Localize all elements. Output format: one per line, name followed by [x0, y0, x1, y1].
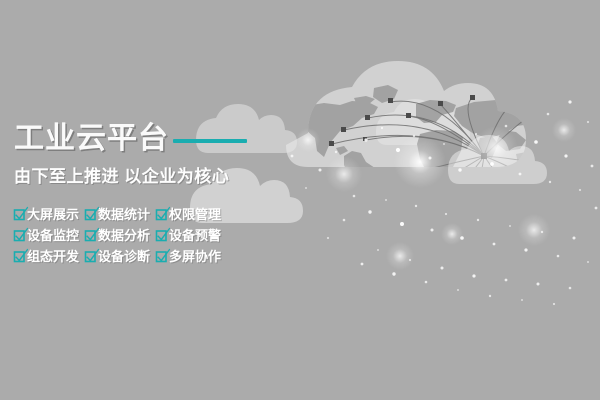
feature-label: 多屏协作: [169, 250, 221, 263]
check-icon: [156, 251, 167, 262]
feature-label: 设备预警: [169, 229, 221, 242]
page-title: 工业云平台: [14, 124, 169, 154]
feature-item: 设备监控: [14, 225, 85, 246]
feature-item: 多屏协作: [156, 246, 227, 267]
check-icon: [14, 230, 25, 241]
feature-item: 设备预警: [156, 225, 227, 246]
title-accent-rule: [173, 139, 247, 143]
feature-label: 设备诊断: [98, 250, 150, 263]
check-icon: [156, 209, 167, 220]
feature-label: 权限管理: [169, 208, 221, 221]
feature-item: 组态开发: [14, 246, 85, 267]
check-icon: [14, 209, 25, 220]
feature-item: 数据分析: [85, 225, 156, 246]
feature-item: 设备诊断: [85, 246, 156, 267]
feature-item: 权限管理: [156, 204, 227, 225]
check-icon: [85, 251, 96, 262]
check-icon: [14, 251, 25, 262]
check-icon: [156, 230, 167, 241]
page-subtitle: 由下至上推进 以企业为核心: [14, 168, 229, 185]
hero-text-panel: 工业云平台 由下至上推进 以企业为核心 大屏展示: [0, 0, 270, 400]
industrial-cloud-banner: 工业云平台 由下至上推进 以企业为核心 大屏展示: [0, 0, 600, 400]
feature-label: 设备监控: [27, 229, 79, 242]
feature-label: 数据统计: [98, 208, 150, 221]
cloud-world-network-illustration: [248, 78, 600, 318]
title-row: 工业云平台: [14, 124, 247, 154]
check-icon: [85, 209, 96, 220]
feature-label: 大屏展示: [27, 208, 79, 221]
feature-list: 大屏展示 数据统计 权限管理: [14, 204, 227, 267]
check-icon: [85, 230, 96, 241]
feature-label: 数据分析: [98, 229, 150, 242]
feature-item: 数据统计: [85, 204, 156, 225]
feature-item: 大屏展示: [14, 204, 85, 225]
feature-label: 组态开发: [27, 250, 79, 263]
